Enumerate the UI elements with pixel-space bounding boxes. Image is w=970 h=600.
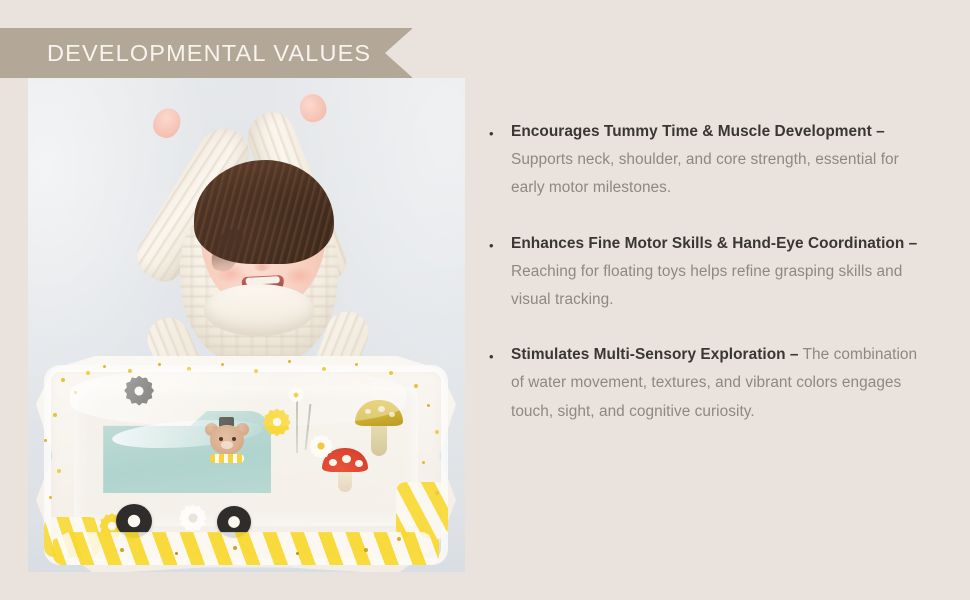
- baby-hand-upper-left: [149, 104, 186, 142]
- glitter-fleck: [158, 363, 161, 366]
- developmental-values-list: • Encourages Tummy Time & Muscle Develop…: [489, 118, 929, 426]
- photo-inner: [28, 78, 465, 572]
- mushroom-dot: [389, 412, 395, 417]
- baby-sweater-collar: [204, 284, 314, 336]
- developmental-values-banner: DEVELOPMENTAL VALUES: [0, 28, 412, 78]
- bear-collar: [210, 454, 244, 463]
- glitter-fleck: [103, 365, 106, 368]
- water-play-mat: [36, 356, 456, 572]
- flower-stem: [296, 395, 298, 453]
- mushroom-dot: [342, 455, 351, 463]
- product-photo: [28, 78, 465, 572]
- glitter-fleck: [175, 552, 178, 555]
- bullet-heading: Enhances Fine Motor Skills & Hand-Eye Co…: [511, 235, 917, 252]
- baby-hand-upper-right: [296, 91, 329, 126]
- glitter-fleck: [53, 413, 57, 417]
- bullet-heading: Stimulates Multi-Sensory Exploration –: [511, 346, 799, 363]
- mat-yellow-stripe-border: [53, 529, 439, 565]
- mat-yellow-stripes-right: [396, 482, 448, 538]
- baby-cheek-right: [284, 266, 314, 286]
- bear-head: [210, 425, 244, 455]
- mushroom-dot: [355, 460, 363, 467]
- glitter-fleck: [355, 363, 358, 366]
- glitter-fleck: [74, 391, 77, 394]
- list-item: • Stimulates Multi-Sensory Exploration –…: [489, 341, 929, 426]
- bear-eye-left: [219, 437, 223, 441]
- mushroom-dot: [329, 459, 337, 466]
- list-item: • Enhances Fine Motor Skills & Hand-Eye …: [489, 230, 929, 315]
- bullet-text: Enhances Fine Motor Skills & Hand-Eye Co…: [511, 230, 929, 315]
- white-daisy-graphic: [309, 434, 333, 458]
- bullet-body: Supports neck, shoulder, and core streng…: [511, 151, 899, 196]
- glitter-fleck: [427, 404, 430, 407]
- bullet-heading: Encourages Tummy Time & Muscle Developme…: [511, 123, 885, 140]
- bullet-marker-icon: •: [489, 341, 511, 363]
- glitter-fleck: [120, 548, 124, 552]
- daisy-petals: [309, 434, 333, 458]
- banner-title: DEVELOPMENTAL VALUES: [47, 28, 371, 78]
- bear-snout: [221, 441, 233, 449]
- daisy-petals: [288, 387, 304, 403]
- bear-eye-right: [232, 437, 236, 441]
- glitter-fleck: [364, 548, 368, 552]
- small-daisy-graphic: [288, 387, 304, 403]
- mushroom-stem: [371, 423, 387, 456]
- mushroom-dot: [378, 406, 385, 412]
- mushroom-stem: [338, 469, 352, 492]
- list-item: • Encourages Tummy Time & Muscle Develop…: [489, 118, 929, 203]
- mushroom-dot: [365, 409, 371, 414]
- glitter-fleck: [322, 367, 326, 371]
- bear-toy: [204, 417, 250, 465]
- bullet-text: Encourages Tummy Time & Muscle Developme…: [511, 118, 929, 203]
- bullet-text: Stimulates Multi-Sensory Exploration – T…: [511, 341, 929, 426]
- bullet-marker-icon: •: [489, 230, 511, 252]
- bullet-body: Reaching for floating toys helps refine …: [511, 263, 902, 308]
- bullet-marker-icon: •: [489, 118, 511, 140]
- glitter-fleck: [49, 496, 52, 499]
- glitter-fleck: [61, 378, 65, 382]
- mushroom-cap: [355, 400, 403, 426]
- glitter-fleck: [221, 363, 224, 366]
